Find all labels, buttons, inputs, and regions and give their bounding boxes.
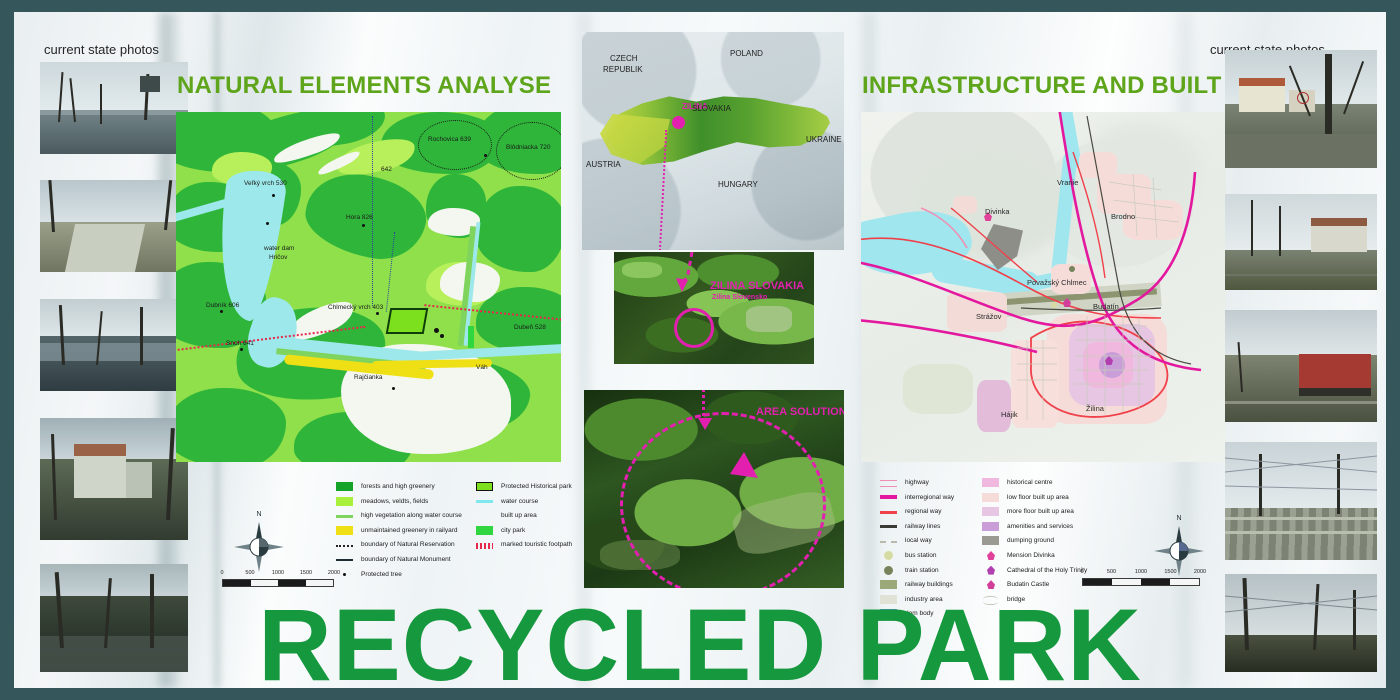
- natural-legend-label: forests and high greenery: [361, 482, 435, 491]
- scale-tick: 1000: [272, 570, 284, 576]
- compass-north-label: N: [256, 511, 261, 518]
- infra-legend-row: Cathedral of the Holy Trinity: [982, 566, 1087, 575]
- compass-north-label-right: N: [1176, 515, 1181, 522]
- site-circle-highlight: [674, 308, 714, 348]
- photo-right-3: [1225, 310, 1377, 422]
- infra-legend-row: historical centre: [982, 478, 1087, 487]
- infra-legend-row: railway lines: [880, 522, 954, 531]
- compass-rose-left: N: [232, 520, 286, 574]
- natural-legend-row: boundary of Natural Reservation: [336, 540, 462, 549]
- scale-tick: 0: [1080, 569, 1083, 575]
- natural-map-label: Chlmecký vrch 403: [328, 304, 383, 311]
- bus-station-marker: [1051, 302, 1057, 308]
- train-wagon: [1299, 354, 1371, 388]
- infra-legend-label: highway: [905, 478, 929, 487]
- infra-legend-label: Mension Divinka: [1007, 551, 1055, 560]
- country-map-label: POLAND: [730, 49, 763, 58]
- scale-tick: 2000: [328, 570, 340, 576]
- infra-legend-label: dumping ground: [1007, 536, 1054, 545]
- natural-legend-row: Protected tree: [336, 570, 462, 579]
- aerial-mid-title: ZILINA SLOVAKIA: [710, 280, 804, 292]
- natural-map-label: Blôdniacka 720: [506, 144, 550, 151]
- photo-right-1: [1225, 50, 1377, 168]
- natural-legend-row: forests and high greenery: [336, 482, 462, 491]
- natural-elements-map[interactable]: [176, 112, 561, 462]
- slovakia-location-map[interactable]: ZILINA CZECHREPUBLIKPOLANDSLOVAKIAUKRAIN…: [582, 32, 844, 250]
- country-map-label: SLOVAKIA: [692, 104, 731, 113]
- natural-legend-row: unmaintained greenery in railyard: [336, 526, 462, 535]
- infra-legend-row: interregional way: [880, 493, 954, 502]
- natural-map-label: Váh: [476, 364, 488, 371]
- natural-legend-label: high vegetation along water course: [361, 511, 462, 520]
- natural-map-label: Snoh 641: [226, 340, 254, 347]
- natural-legend-row: city park: [476, 526, 572, 535]
- infra-legend-row: train station: [880, 566, 954, 575]
- infra-legend-label: regional way: [905, 507, 942, 516]
- infra-legend-row: low floor built up area: [982, 493, 1087, 502]
- infra-map-label: Žilina: [1086, 404, 1104, 413]
- natural-map-label: Veľký vrch 530: [244, 180, 287, 187]
- natural-map-label: 642: [381, 166, 392, 173]
- scale-bar-left: 0500100015002000: [222, 570, 334, 587]
- aerial-mid-subtitle: Zilina Slovensko: [712, 294, 767, 301]
- scale-tick: 0: [220, 570, 223, 576]
- natural-legend-column-2: Protected Historical park water course b…: [476, 482, 572, 555]
- scale-tick: 500: [1107, 569, 1116, 575]
- natural-legend-row: high vegetation along water course: [336, 511, 462, 520]
- zilina-location-marker: [672, 116, 685, 129]
- natural-legend-label: boundary of Natural Reservation: [361, 540, 455, 549]
- infrastructure-map[interactable]: [861, 112, 1226, 462]
- natural-legend-label: unmaintained greenery in railyard: [361, 526, 457, 535]
- infra-map-label: Vranie: [1057, 178, 1078, 187]
- photo-right-4: [1225, 442, 1377, 560]
- natural-map-label: Rajčianka: [354, 374, 383, 381]
- natural-legend-label: meadows, veldts, fields: [361, 497, 428, 506]
- aerial-photo-area-solution[interactable]: AREA SOLUTION: [584, 390, 844, 588]
- infra-legend-label: interregional way: [905, 493, 954, 502]
- infra-legend-row: Mension Divinka: [982, 551, 1087, 560]
- natural-map-label: Hora 826: [346, 214, 373, 221]
- infra-legend-label: amenities and services: [1007, 522, 1073, 531]
- scale-tick: 500: [245, 570, 254, 576]
- country-map-label: HUNGARY: [718, 180, 758, 189]
- natural-map-label: Hričov: [269, 254, 287, 261]
- aerial-photo-zilina[interactable]: ZILINA SLOVAKIA Zilina Slovensko: [614, 252, 814, 364]
- infra-map-label: Budatín: [1093, 302, 1119, 311]
- photo-left-1: [40, 62, 188, 154]
- natural-map-label: water dam: [264, 245, 294, 252]
- infra-legend-row: local way: [880, 536, 954, 545]
- infra-legend-row: amenities and services: [982, 522, 1087, 531]
- area-solution-title: AREA SOLUTION: [756, 406, 844, 418]
- photo-left-2: [40, 180, 188, 272]
- infra-legend-row: highway: [880, 478, 954, 487]
- infra-legend-label: bus station: [905, 551, 936, 560]
- natural-legend-row: meadows, veldts, fields: [336, 497, 462, 506]
- natural-legend-row: built up area: [476, 511, 572, 520]
- infra-map-label: Považský Chlmec: [1027, 278, 1087, 287]
- natural-map-label: Dubeň 528: [514, 324, 546, 331]
- natural-legend-label: marked touristic footpath: [501, 540, 572, 549]
- natural-legend-row: boundary of Natural Monument: [336, 555, 462, 564]
- natural-legend-label: Protected Historical park: [501, 482, 572, 491]
- infra-legend-row: dumping ground: [982, 536, 1087, 545]
- natural-legend-row: Protected Historical park: [476, 482, 572, 491]
- infra-map-label: Hájik: [1001, 410, 1018, 419]
- infra-map-label: Divinka: [985, 207, 1010, 216]
- scale-tick: 2000: [1194, 569, 1206, 575]
- infra-legend-label: local way: [905, 536, 932, 545]
- infra-map-label: Brodno: [1111, 212, 1135, 221]
- infra-legend-row: more floor built up area: [982, 507, 1087, 516]
- protected-historical-park-polygon: [386, 308, 429, 334]
- photo-left-3: [40, 299, 188, 391]
- infra-map-label: Strážov: [976, 312, 1001, 321]
- section-title-natural: NATURAL ELEMENTS ANALYSE: [177, 72, 551, 100]
- infra-legend-label: historical centre: [1007, 478, 1053, 487]
- infra-legend-row: regional way: [880, 507, 954, 516]
- natural-legend-row: water course: [476, 497, 572, 506]
- country-map-label: UKRAINE: [806, 135, 842, 144]
- natural-legend-label: boundary of Natural Monument: [361, 555, 451, 564]
- country-map-label: REPUBLIK: [603, 65, 643, 74]
- infra-legend-label: more floor built up area: [1007, 507, 1074, 516]
- natural-legend-label: Protected tree: [361, 570, 402, 579]
- natural-map-label: Dubník 606: [206, 302, 239, 309]
- country-map-label: CZECH: [610, 54, 638, 63]
- country-map-label: AUSTRIA: [586, 160, 621, 169]
- natural-legend-row: marked touristic footpath: [476, 540, 572, 549]
- scale-tick: 1500: [300, 570, 312, 576]
- infra-legend-label: train station: [905, 566, 939, 575]
- area-solution-circle: [620, 412, 826, 588]
- scale-tick: 1500: [1164, 569, 1176, 575]
- poster-main-title: RECYCLED PARK: [14, 587, 1386, 688]
- infra-legend-label: railway lines: [905, 522, 940, 531]
- scale-tick: 1000: [1135, 569, 1147, 575]
- photo-caption-left: current state photos: [44, 42, 159, 57]
- photo-left-4: [40, 418, 188, 540]
- natural-legend-column-1: forests and high greenery meadows, veldt…: [336, 482, 462, 584]
- infra-legend-row: bus station: [880, 551, 954, 560]
- infra-legend-label: Cathedral of the Holy Trinity: [1007, 566, 1087, 575]
- natural-legend-label: city park: [501, 526, 525, 535]
- natural-legend-label: water course: [501, 497, 538, 506]
- train-station-marker: [1069, 266, 1075, 272]
- natural-legend-label: built up area: [501, 511, 537, 520]
- infra-legend-label: low floor built up area: [1007, 493, 1069, 502]
- poster-canvas: current state photos: [14, 12, 1386, 688]
- photo-right-2: [1225, 194, 1377, 290]
- scale-bar-right: 0500100015002000: [1082, 569, 1200, 586]
- natural-map-label: Rochovica 639: [428, 136, 471, 143]
